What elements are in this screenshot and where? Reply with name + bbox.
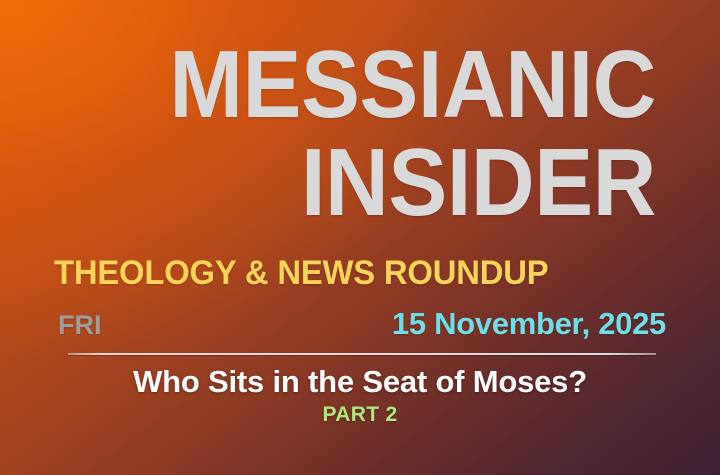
masthead-line-1: MESSIANIC xyxy=(52,38,656,132)
masthead: MESSIANIC INSIDER xyxy=(0,38,656,230)
issue-date: 15 November, 2025 xyxy=(392,308,666,339)
kicker-subtitle: THEOLOGY & NEWS ROUNDUP xyxy=(54,256,647,290)
masthead-line-2: INSIDER xyxy=(52,136,656,230)
date-row: FRI 15 November, 2025 xyxy=(58,308,666,344)
headline-title: Who Sits in the Seat of Moses? xyxy=(0,366,720,399)
newsletter-banner: MESSIANIC INSIDER THEOLOGY & NEWS ROUNDU… xyxy=(0,0,720,475)
horizontal-divider xyxy=(68,353,656,355)
part-label: PART 2 xyxy=(0,404,720,425)
day-abbreviation: FRI xyxy=(58,312,102,339)
